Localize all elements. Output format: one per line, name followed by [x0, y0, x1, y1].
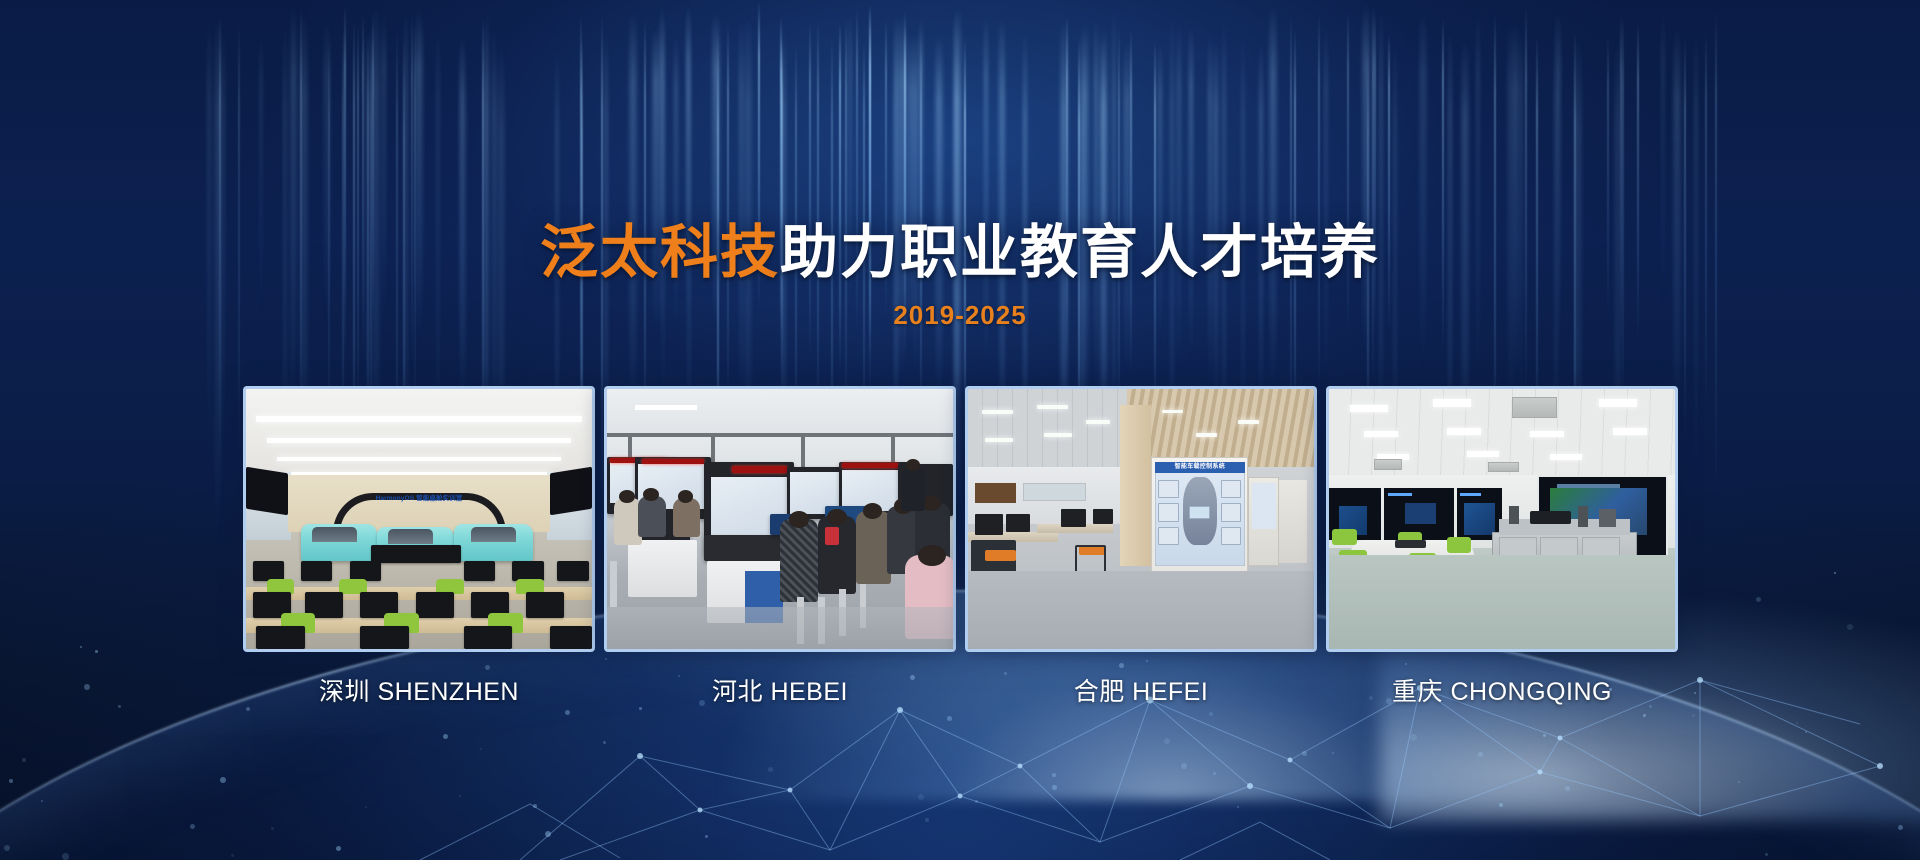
photo-shenzhen-classroom: HarmonyOS 智能座舱实训室	[246, 389, 592, 649]
photo-card-hebei[interactable]	[604, 386, 956, 652]
light-beam	[294, 4, 296, 403]
particle-dot	[22, 758, 26, 762]
city-label-row: 深圳 SHENZHEN 河北 HEBEI 合肥 HEFEI 重庆 CHONGQI…	[0, 672, 1920, 712]
photo-hefei-lab: 智能车载控制系统	[968, 389, 1314, 649]
photo-gallery: HarmonyOS 智能座舱实训室	[0, 386, 1920, 656]
light-beam	[1388, 32, 1390, 336]
light-beam	[1620, 11, 1622, 345]
particle-dot	[1805, 731, 1807, 733]
photo-card-hefei[interactable]: 智能车载控制系统	[965, 386, 1317, 652]
city-label-chongqing: 重庆 CHONGQING	[1326, 672, 1678, 708]
year-range-label: 2019-2025	[0, 300, 1920, 331]
light-beam	[780, 15, 782, 338]
light-beam	[1271, 2, 1275, 399]
light-beam	[1607, 33, 1609, 336]
page-title-rest: 助力职业教育人才培养	[780, 220, 1380, 285]
light-beam	[856, 5, 858, 344]
page-title-brand: 泛太科技	[540, 220, 780, 285]
particle-dot	[9, 779, 13, 783]
city-label-hefei: 合肥 HEFEI	[965, 672, 1317, 708]
photo-hefei-caption: 智能车载控制系统	[1155, 462, 1245, 474]
page-title: 泛太科技助力职业教育人才培养	[0, 205, 1920, 289]
photo-card-shenzhen[interactable]: HarmonyOS 智能座舱实训室	[243, 386, 595, 652]
photo-shenzhen-caption: HarmonyOS 智能座舱实训室	[343, 494, 495, 510]
light-beam	[417, 8, 421, 347]
city-label-hebei: 河北 HEBEI	[604, 672, 956, 708]
city-label-shenzhen: 深圳 SHENZHEN	[243, 672, 595, 708]
light-beam	[1347, 8, 1349, 347]
photo-chongqing-lab	[1329, 389, 1675, 649]
particle-dot	[1796, 722, 1798, 724]
photo-card-chongqing[interactable]	[1326, 386, 1678, 652]
promo-banner: 泛太科技助力职业教育人才培养 2019-2025 HarmonyOS 智能座舱实…	[0, 0, 1920, 860]
photo-hebei-lab	[607, 389, 953, 649]
light-beam	[325, 17, 329, 341]
light-beam	[1372, 4, 1374, 392]
light-beam	[675, 33, 677, 338]
